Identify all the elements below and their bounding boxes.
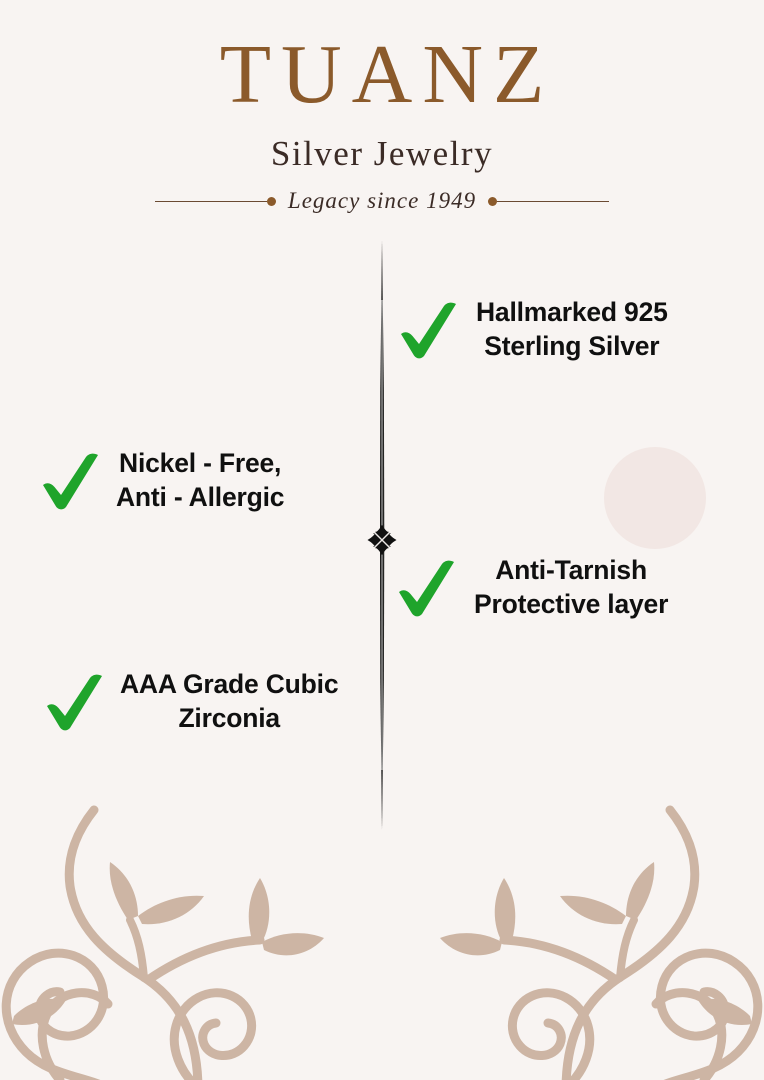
green-check-icon: [44, 673, 106, 731]
feature-nickel: Nickel - Free,Anti - Allergic: [40, 447, 284, 514]
feature-nickel-line2: Anti - Allergic: [116, 482, 284, 512]
brand-tagline: Legacy since 1949: [276, 188, 488, 214]
feature-zirconia-line1: AAA Grade Cubic: [120, 669, 338, 699]
feature-tarnish-line1: Anti-Tarnish: [495, 555, 647, 585]
brand-subtitle: Silver Jewelry: [0, 134, 764, 174]
feature-nickel-line1: Nickel - Free,: [119, 448, 281, 478]
feature-zirconia-label: AAA Grade CubicZirconia: [120, 668, 338, 735]
brand-header: TUANZ Silver Jewelry Legacy since 1949: [0, 34, 764, 214]
feature-zirconia: AAA Grade CubicZirconia: [44, 668, 338, 735]
quatrefoil-ornament-icon: [365, 521, 399, 559]
rule-dot-right-icon: [488, 197, 497, 206]
rule-dot-left-icon: [267, 197, 276, 206]
green-check-icon: [396, 559, 458, 617]
brand-name: TUANZ: [0, 34, 764, 116]
green-check-icon: [398, 301, 460, 359]
soft-blush-circle: [604, 447, 706, 549]
feature-tarnish-line2: Protective layer: [474, 589, 668, 619]
feature-hallmark-line1: Hallmarked 925: [476, 297, 668, 327]
feature-nickel-label: Nickel - Free,Anti - Allergic: [116, 447, 284, 514]
feature-tarnish-label: Anti-TarnishProtective layer: [474, 554, 668, 621]
feature-hallmark-line2: Sterling Silver: [484, 331, 659, 361]
rule-line-right: [497, 201, 609, 203]
feature-tarnish: Anti-TarnishProtective layer: [396, 554, 668, 621]
feature-zirconia-line2: Zirconia: [178, 703, 279, 733]
brand-tagline-rule: Legacy since 1949: [0, 188, 764, 214]
feature-hallmark: Hallmarked 925Sterling Silver: [398, 296, 668, 363]
poster-canvas: TUANZ Silver Jewelry Legacy since 1949: [0, 0, 764, 1080]
feature-hallmark-label: Hallmarked 925Sterling Silver: [476, 296, 668, 363]
green-check-icon: [40, 452, 102, 510]
rule-line-left: [155, 201, 267, 203]
